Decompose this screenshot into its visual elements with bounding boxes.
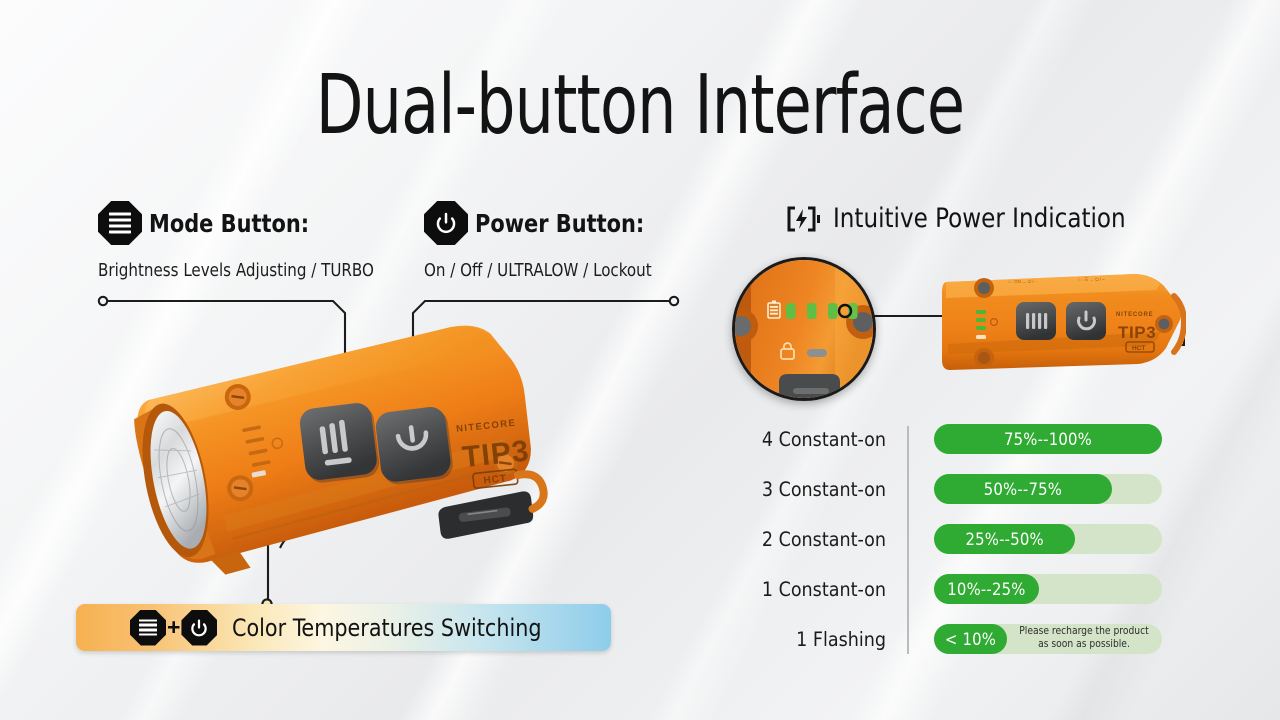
- battery-range-label: 25%--50%: [966, 530, 1044, 549]
- battery-track: 25%--50%: [934, 524, 1162, 554]
- recharge-note: Please recharge the product as soon as p…: [1008, 626, 1160, 652]
- battery-range-label: < 10%: [945, 630, 996, 649]
- svg-text:⌂ : ☰ → ⏻ / ⌁: ⌂ : ☰ → ⏻ / ⌁: [1078, 277, 1105, 282]
- color-temperature-label: Color Temperatures Switching: [232, 614, 542, 642]
- row-label: 4 Constant-on: [748, 428, 906, 451]
- flashlight-top-view-image: ⌂ : ON → ⏻ / ⌁ ⌂ : ☰ → ⏻ / ⌁ NITECORE TI…: [938, 266, 1186, 378]
- svg-text:⌂ : ON → ⏻ / ⌁: ⌂ : ON → ⏻ / ⌁: [1008, 279, 1037, 284]
- table-row: 4 Constant-on 75%--100%: [748, 424, 1168, 454]
- row-label: 2 Constant-on: [748, 528, 906, 551]
- battery-range-label: 50%--75%: [984, 480, 1062, 499]
- battery-track: 75%--100%: [934, 424, 1162, 454]
- mode-button-label: Mode Button:: [149, 209, 309, 238]
- mode-button-block: Mode Button: Brightness Levels Adjusting…: [98, 201, 385, 281]
- svg-text:NITECORE: NITECORE: [1116, 312, 1153, 318]
- power-button-block: Power Button: On / Off / ULTRALOW / Lock…: [424, 201, 661, 281]
- flashlight-main-image: NITECORE TIP3 HCT: [118, 300, 588, 600]
- power-button-header-row: Power Button:: [424, 201, 661, 245]
- table-row: 3 Constant-on 50%--75%: [748, 474, 1168, 504]
- row-label: 1 Flashing: [748, 628, 906, 651]
- battery-fill: 25%--50%: [934, 524, 1075, 554]
- recharge-note-line-1: Please recharge the product: [1019, 626, 1148, 639]
- battery-bolt-icon: [786, 204, 820, 234]
- plus-sign: +: [167, 614, 180, 641]
- mode-lines-octagon-icon: [130, 610, 166, 646]
- mode-button-description: Brightness Levels Adjusting / TURBO: [98, 261, 374, 281]
- svg-text:TIP3: TIP3: [1118, 323, 1156, 342]
- color-temperature-banner[interactable]: + Color Temperatures Switching: [76, 604, 611, 651]
- battery-fill: 50%--75%: [934, 474, 1112, 504]
- table-row: 2 Constant-on 25%--50%: [748, 524, 1168, 554]
- battery-range-label: 75%--100%: [1004, 430, 1092, 449]
- row-label: 3 Constant-on: [748, 478, 906, 501]
- page-title: Dual-button Interface: [102, 58, 1177, 153]
- table-row: 1 Constant-on 10%--25%: [748, 574, 1168, 604]
- power-button-description: On / Off / ULTRALOW / Lockout: [424, 261, 652, 281]
- battery-track: 10%--25%: [934, 574, 1162, 604]
- battery-fill: 75%--100%: [934, 424, 1162, 454]
- led-magnifier-circle: [732, 257, 876, 401]
- power-button-label: Power Button:: [475, 209, 644, 238]
- power-indication-table: 4 Constant-on 75%--100% 3 Constant-on 50…: [748, 420, 1168, 660]
- svg-text:HCT: HCT: [1132, 345, 1145, 352]
- battery-fill: 10%--25%: [934, 574, 1039, 604]
- power-indication-header: Intuitive Power Indication: [786, 203, 1141, 234]
- power-indication-heading: Intuitive Power Indication: [833, 203, 1126, 234]
- svg-text:TIP3: TIP3: [461, 434, 531, 474]
- battery-track: < 10% Please recharge the product as soo…: [934, 624, 1162, 654]
- battery-track: 50%--75%: [934, 474, 1162, 504]
- recharge-note-line-2: as soon as possible.: [1038, 639, 1130, 652]
- battery-fill: < 10%: [934, 624, 1007, 654]
- power-symbol-octagon-icon: [424, 201, 468, 245]
- battery-range-label: 10%--25%: [947, 580, 1025, 599]
- power-symbol-octagon-icon: [181, 610, 217, 646]
- mode-lines-octagon-icon: [98, 201, 142, 245]
- row-label: 1 Constant-on: [748, 578, 906, 601]
- table-row: 1 Flashing < 10% Please recharge the pro…: [748, 624, 1168, 654]
- mode-button-header-row: Mode Button:: [98, 201, 385, 245]
